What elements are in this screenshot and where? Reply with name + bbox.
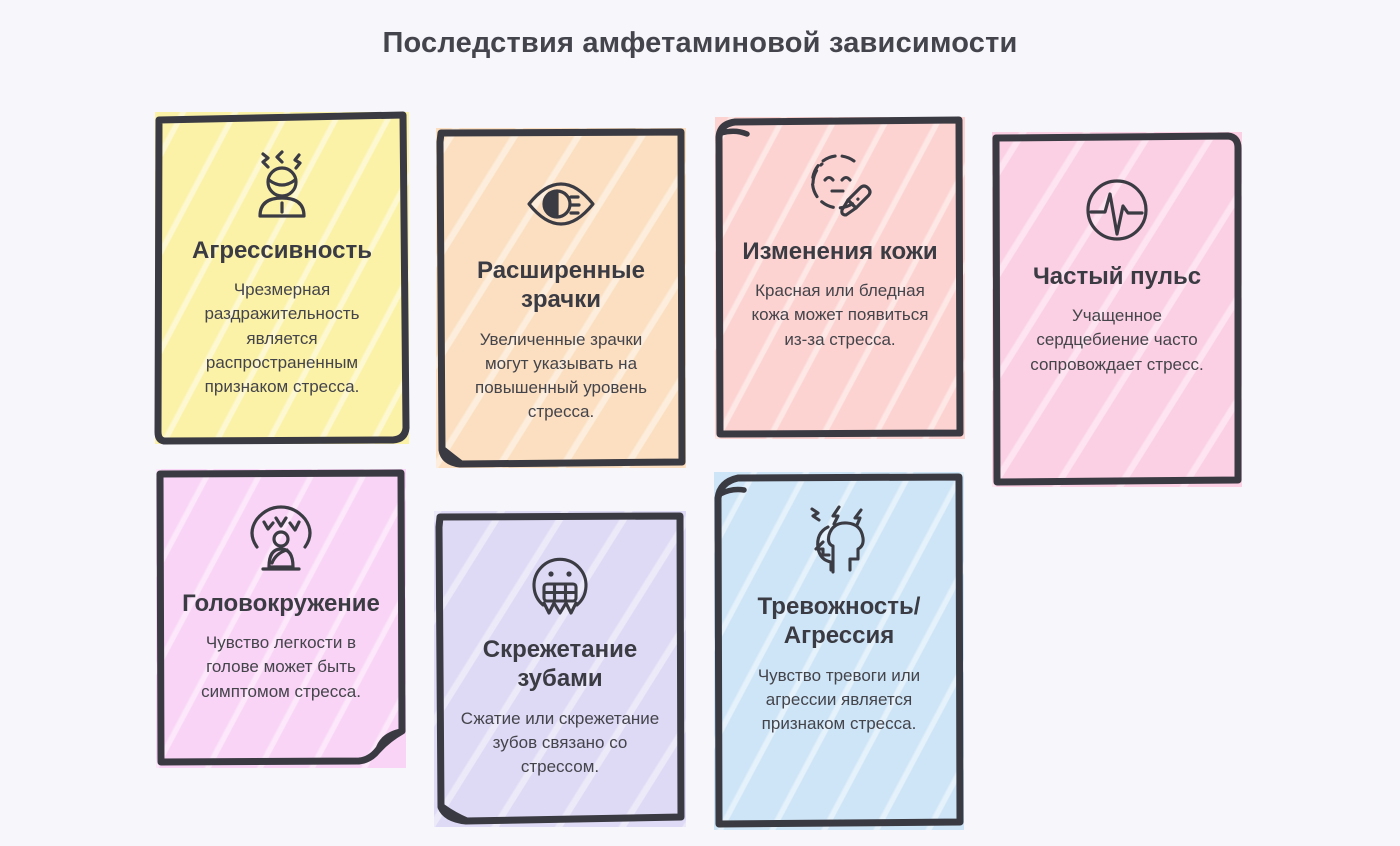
card-body: Чрезмерная раздражительность является ра… xyxy=(187,278,377,399)
dizzy-person-icon xyxy=(243,499,319,575)
cards-board: Агрессивность Чрезмерная раздражительнос… xyxy=(0,0,1400,846)
card-heading: Тревожность/ Агрессия xyxy=(740,592,938,651)
card-anxiety-aggression[interactable]: Тревожность/ Агрессия Чувство тревоги ил… xyxy=(714,472,964,830)
card-dizziness[interactable]: Головокружение Чувство легкости в голове… xyxy=(156,469,406,768)
card-body: Красная или бледная кожа может появиться… xyxy=(745,279,935,351)
card-body: Чувство тревоги или агрессии является пр… xyxy=(744,664,934,736)
card-body: Увеличенные зрачки могут указывать на по… xyxy=(466,328,656,425)
card-heading: Головокружение xyxy=(182,589,380,618)
card-skin-changes[interactable]: Изменения кожи Красная или бледная кожа … xyxy=(715,117,965,439)
card-content: Агрессивность Чрезмерная раздражительнос… xyxy=(155,112,409,444)
card-body: Чувство легкости в голове может быть сим… xyxy=(182,631,380,703)
card-heading: Агрессивность xyxy=(192,236,372,265)
card-heading: Изменения кожи xyxy=(742,237,937,266)
card-content: Тревожность/ Агрессия Чувство тревоги ил… xyxy=(714,472,964,830)
pulse-circle-icon xyxy=(1079,172,1155,248)
card-content: Частый пульс Учащенное сердцебиение част… xyxy=(992,132,1242,487)
card-heading: Расширенные зрачки xyxy=(462,256,660,315)
grinding-teeth-icon xyxy=(522,545,598,621)
card-body: Сжатие или скрежетание зубов связано со … xyxy=(460,707,660,779)
card-dilated-pupils[interactable]: Расширенные зрачки Увеличенные зрачки мо… xyxy=(436,128,686,468)
card-heading: Частый пульс xyxy=(1033,262,1201,291)
face-brush-icon xyxy=(802,147,878,223)
two-heads-lightning-icon xyxy=(801,502,877,578)
card-body: Учащенное сердцебиение часто сопровождае… xyxy=(1022,304,1212,376)
card-aggression[interactable]: Агрессивность Чрезмерная раздражительнос… xyxy=(155,112,409,444)
card-content: Изменения кожи Красная или бледная кожа … xyxy=(715,117,965,439)
card-rapid-pulse[interactable]: Частый пульс Учащенное сердцебиение част… xyxy=(992,132,1242,487)
dilated-eye-icon xyxy=(523,166,599,242)
card-content: Расширенные зрачки Увеличенные зрачки мо… xyxy=(436,128,686,468)
card-content: Головокружение Чувство легкости в голове… xyxy=(156,469,406,768)
angry-person-icon xyxy=(244,146,320,222)
card-heading: Скрежетание зубами xyxy=(460,635,660,694)
card-teeth-grinding[interactable]: Скрежетание зубами Сжатие или скрежетани… xyxy=(434,511,686,827)
card-content: Скрежетание зубами Сжатие или скрежетани… xyxy=(434,511,686,827)
